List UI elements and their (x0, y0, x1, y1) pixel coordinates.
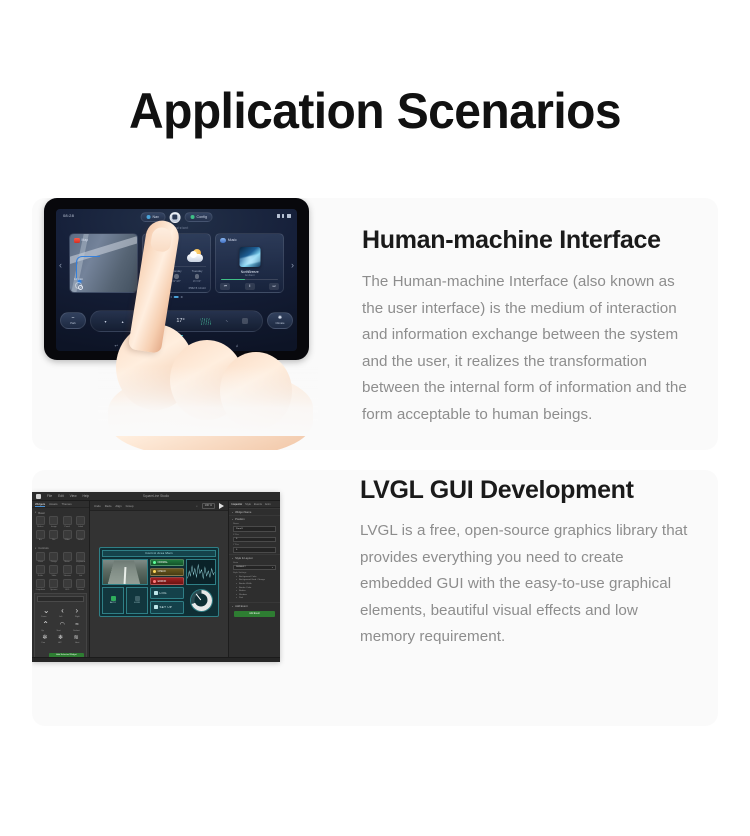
preview-icon-label: Up (41, 630, 44, 632)
music-note-icon (220, 238, 226, 244)
toolbar-redo[interactable]: Redo (105, 504, 112, 508)
map-chip: Map (74, 238, 88, 244)
panel-icon[interactable] (63, 516, 72, 525)
palette-item: List (75, 565, 87, 577)
palette-item: Switch (75, 530, 87, 542)
carousel-prev-icon[interactable]: ‹ (59, 261, 62, 270)
slider-icon[interactable] (63, 530, 72, 539)
fan-low-icon[interactable]: ▾ (105, 319, 107, 324)
right-panel-tabs: Inspector Style Events Anim (229, 501, 280, 508)
weather-condition: Cloudy (148, 261, 160, 265)
list-item: Pad (236, 597, 280, 601)
climate-temperature[interactable]: 17° (176, 318, 184, 324)
album-art (239, 247, 260, 267)
setup-button-label: SET UP (160, 605, 173, 609)
widget-grid-controls: Chart Gauge Meter Keyboard Roller Table … (32, 552, 89, 593)
forecast-day-range: 19°/28° (168, 280, 186, 283)
device-screen: 08:28 Nav (56, 209, 297, 351)
weather-temperature-value: 25 (148, 247, 160, 259)
heater-icon[interactable]: ≋ (74, 635, 79, 641)
dashboard-design[interactable]: Control Area Main NORMAL CHECK (99, 547, 219, 617)
map-icon (146, 215, 150, 219)
page-title: Application Scenarios (15, 86, 735, 136)
screen-dock: ⎯ Park ▾ ▴ ◜ 17° ◝ (56, 304, 297, 351)
weather-footer-left-label: Rainy (152, 286, 160, 290)
left-panel-preview: ⌄ ‹ › Down Left Right ⌃ ◠ ≈ (34, 593, 87, 660)
tab-widgets[interactable]: Widgets (35, 502, 45, 507)
forecast-day: Tuesday 16°/24° (188, 269, 206, 283)
chevron-down-icon[interactable]: ⌄ (43, 607, 50, 615)
table-icon[interactable] (49, 565, 58, 574)
style-settings-list: Background Color Background Grad. Change… (229, 574, 280, 602)
palette-item-label: Canvas (75, 589, 87, 591)
dock-active-indicator (171, 335, 183, 337)
home-icon[interactable] (169, 212, 180, 223)
status-button-group: NORMAL CHECK ERROR (150, 559, 184, 586)
seat-left-icon[interactable]: ◜ (160, 319, 162, 324)
nav-pill-label: Nav (153, 215, 159, 219)
weather-chip: Weather (147, 238, 167, 244)
palette-item-label: Label (75, 526, 87, 528)
preview-icon-row-1: ⌄ ‹ › (35, 604, 86, 616)
map-eta-label: 12 min (74, 277, 83, 281)
ide-status-bar (32, 657, 280, 662)
palette-item-label: Bar (48, 539, 60, 541)
palette-item-label: Gauge (48, 561, 60, 563)
carousel-pagination[interactable] (170, 296, 183, 298)
roller-icon[interactable] (36, 565, 45, 574)
toolbar-group[interactable]: Group (126, 504, 134, 508)
forecast-day: Monday 19°/28° (168, 269, 186, 283)
weather-sun-cloud-icon (187, 249, 204, 262)
music-chip-label: Music (228, 238, 237, 242)
track-artist: Ambient (216, 274, 283, 277)
forecast-day-range: 17°/26° (147, 280, 165, 283)
hmi-card-text: The Human-machine Interface (also known … (362, 269, 694, 428)
palette-item: Table (48, 565, 60, 577)
toolbar-undo[interactable]: Undo (94, 504, 101, 508)
signal-chart[interactable] (186, 559, 216, 586)
chart-waveform (187, 560, 215, 585)
map-chip-label: Map (82, 238, 89, 242)
palette-item: Button (35, 516, 47, 528)
apps-icon[interactable]: ▦ (175, 343, 179, 348)
dashboard-tiles: AUTO LOCK (102, 587, 148, 614)
preview-icon-label: Defrost (73, 630, 79, 632)
progress-bar[interactable] (221, 279, 278, 280)
weather-temperature: 25° (148, 248, 162, 259)
widget-grid-basic: Button Image Panel Label Arc Bar Slider … (32, 516, 89, 544)
gear-icon (190, 215, 194, 219)
section-add-event[interactable]: Add Event (229, 602, 280, 609)
log-icon (154, 591, 158, 595)
list-item-label[interactable]: Background Grad. Change (239, 579, 265, 581)
palette-item-label: Spinner (48, 589, 60, 591)
palette-item-label: Switch (75, 539, 87, 541)
car-icon: ⎯ (72, 316, 75, 321)
section-style-layout[interactable]: Style & Layout (229, 554, 280, 561)
ide-right-panel: Inspector Style Events Anim Widget Name … (228, 501, 280, 662)
screen-status-bar: 08:28 Nav (56, 209, 297, 224)
log-button-label: LOG (160, 591, 167, 595)
page-dot[interactable] (181, 296, 183, 298)
status-button-label: ERROR (158, 580, 167, 583)
forecast-day: Saturday 17°/26° (147, 269, 165, 283)
rain-icon (147, 286, 150, 290)
recirculate-icon[interactable] (139, 318, 145, 324)
led-icon (153, 580, 156, 583)
menu-item-edit[interactable]: Edit (58, 494, 64, 498)
palette-item: Slider (61, 530, 73, 542)
palette-item-label: Roller (35, 575, 47, 577)
menu-item-help[interactable]: Help (83, 494, 90, 498)
status-button-label: NORMAL (158, 561, 168, 564)
section-header-basic[interactable]: Basic (32, 508, 89, 516)
location-pin-icon (74, 238, 80, 244)
list-item-label[interactable]: Radius (239, 590, 246, 592)
palette-item: Chart (35, 552, 47, 564)
ide-window-title: SquareLine Studio (143, 494, 169, 498)
palm (108, 370, 313, 450)
field-input-name[interactable]: Panel1 (233, 526, 276, 532)
dock-park-label: Park (70, 322, 76, 325)
label-icon[interactable] (76, 516, 85, 525)
nav-pill-button[interactable]: Nav (140, 212, 165, 222)
list-item-label[interactable]: Shadow (239, 594, 247, 596)
dashboard-title: Control Area Main (102, 550, 216, 557)
field-input-xpos[interactable]: 0 (233, 537, 276, 543)
palette-item-label: Table (48, 575, 60, 577)
palette-item: Roller (35, 565, 47, 577)
preview-icon-row-2: ⌃ ◠ ≈ (35, 618, 86, 630)
field-select-state[interactable]: DEFAULT (233, 565, 276, 571)
screen-subtitle: Car Assistant (165, 226, 189, 230)
tile-label: LOCK (134, 602, 140, 604)
left-panel-tabs: Widgets Assets Themes (32, 501, 89, 508)
degree-symbol: ° (160, 247, 162, 252)
image-icon[interactable] (49, 516, 58, 525)
lvgl-card-body: LVGL GUI Development LVGL is a free, ope… (332, 470, 718, 726)
config-pill-label: Config (197, 215, 207, 219)
tabview-icon[interactable] (63, 565, 72, 574)
widget-card-weather[interactable]: Weather 25° Cloudy 18° / 27° (142, 233, 211, 293)
previous-icon[interactable]: ⏮ (220, 283, 230, 290)
weather-forecast-row: Saturday 17°/26° Monday 19°/28° (147, 266, 206, 283)
log-button[interactable]: LOG (150, 587, 184, 599)
vent-icon (200, 318, 211, 325)
palette-item: Dropdown (35, 579, 47, 591)
snowflake-icon[interactable]: ❄ (58, 635, 63, 641)
page-dot[interactable] (170, 296, 172, 298)
lvgl-card-text: LVGL is a free, open-source graphics lib… (360, 518, 692, 651)
canvas-icon[interactable] (76, 579, 85, 588)
dock-bottom-icons: ↩ ▦ ♫ (56, 343, 297, 348)
cloud-icon (187, 254, 203, 262)
palette-item: Keyboard (75, 552, 87, 564)
palette-item-label: Arc (35, 539, 47, 541)
field-label-ypos: Y Pos (229, 543, 280, 546)
cloud-icon (154, 274, 159, 279)
ide-window: File Edit View Help SquareLine Studio Wi… (32, 492, 280, 662)
tile-label: AUTO (110, 602, 116, 604)
forecast-day-range: 16°/24° (188, 280, 206, 283)
forecast-day-name: Tuesday (188, 269, 206, 273)
palette-item: Label (75, 516, 87, 528)
track-title: NorthBreeze (216, 270, 283, 274)
zoom-level[interactable]: 100 % (202, 503, 215, 509)
carousel-next-icon[interactable]: › (291, 261, 294, 270)
palette-item-label: LED (61, 589, 73, 591)
tile-lock[interactable]: LOCK (126, 587, 148, 614)
chevron-right-icon[interactable]: › (75, 607, 78, 615)
status-button-error[interactable]: ERROR (150, 577, 184, 585)
progress-fill (221, 279, 245, 280)
list-item-label[interactable]: Background Color (239, 576, 257, 578)
tab-inspector[interactable]: Inspector (232, 503, 243, 506)
tab-style[interactable]: Style (245, 503, 251, 506)
weather-footer-left: Rainy (147, 286, 159, 290)
spinner-icon[interactable] (49, 579, 58, 588)
scenario-card-human-machine-interface: 08:28 Nav (32, 198, 718, 450)
dock-climate-button[interactable]: ✺ Climate (267, 312, 293, 329)
auto-icon (111, 596, 116, 601)
defrost-icon[interactable]: ≈ (75, 622, 78, 628)
toolbar-align[interactable]: Align (115, 504, 121, 508)
hand-fade-overlay (98, 366, 318, 436)
gauge-needle (196, 594, 202, 601)
preview-icon-label: Left (59, 616, 62, 618)
palette-item-label: Tabview (61, 575, 73, 577)
music-chip: Music (220, 238, 236, 244)
hmi-card-body: Human-machine Interface The Human-machin… (332, 198, 718, 450)
dashboard-actions: LOG SET UP (150, 587, 184, 614)
chart-icon[interactable] (36, 552, 45, 561)
bar-icon[interactable] (49, 530, 58, 539)
field-input-ypos[interactable]: 0 (233, 547, 276, 553)
field-label-name: Name (229, 522, 280, 525)
list-item-label[interactable]: Border Color (239, 587, 251, 589)
preview-icon-label: Heat (75, 642, 79, 644)
pause-icon[interactable]: ‖ (245, 283, 255, 290)
palette-item-label: Button (35, 526, 47, 528)
dashboard-top-row: NORMAL CHECK ERROR (102, 559, 216, 586)
chevron-up-icon[interactable]: ⌃ (42, 621, 49, 629)
palette-item-label: Dropdown (35, 589, 47, 591)
preview-icon-label: Seat (56, 630, 60, 632)
preview-icon-label: Down (41, 616, 46, 618)
led-icon (153, 561, 156, 564)
palette-item-label: Meter (61, 561, 73, 563)
seat-right-icon[interactable]: ◝ (226, 319, 228, 324)
music-controls: ⏮ ‖ ⏭ (220, 283, 279, 290)
next-icon[interactable]: ⏭ (269, 283, 279, 290)
section-widget-name[interactable]: Widget Name (229, 508, 280, 515)
arc-icon[interactable] (36, 530, 45, 539)
menu-item-file[interactable]: File (47, 494, 52, 498)
gauge-icon[interactable] (49, 552, 58, 561)
fan-icon: ✺ (278, 316, 282, 321)
dashboard-bottom-row: AUTO LOCK LOG (102, 587, 216, 614)
hmi-card-title: Human-machine Interface (362, 226, 694, 255)
camera-view-panel[interactable] (102, 559, 148, 586)
switch-icon[interactable] (76, 530, 85, 539)
rain-icon (195, 274, 200, 279)
signal-icon (277, 214, 280, 218)
palette-item: Panel (61, 516, 73, 528)
widget-card-music[interactable]: Music NorthBreeze Ambient ⏮ ‖ ⏭ (215, 233, 284, 293)
section-header-controls[interactable]: Controls (32, 544, 89, 552)
config-pill-button[interactable]: Config (184, 212, 213, 222)
palette-item-label: Slider (61, 539, 73, 541)
lock-icon (135, 596, 140, 601)
battery-icon (287, 214, 292, 218)
preview-icon-labels-2: Up Seat Defrost (35, 630, 86, 632)
weather-footer-right: PM2.5 14 Air (189, 286, 206, 290)
lvgl-ide-screenshot: File Edit View Help SquareLine Studio Wi… (32, 470, 332, 726)
tab-assets[interactable]: Assets (49, 502, 57, 506)
magnifier-icon[interactable]: ⌕ (196, 504, 198, 508)
palette-item: Image (48, 516, 60, 528)
section-position[interactable]: Position (229, 515, 280, 522)
page-dot-active[interactable] (174, 296, 179, 298)
led-icon[interactable] (63, 579, 72, 588)
gauge-widget[interactable] (191, 590, 212, 611)
tile-auto[interactable]: AUTO (102, 587, 124, 614)
status-button-check[interactable]: CHECK (150, 568, 184, 576)
led-icon (153, 570, 156, 573)
search-input[interactable] (37, 596, 84, 602)
fan-icon[interactable]: ✲ (42, 635, 47, 641)
status-button-label: CHECK (158, 570, 166, 573)
touchscreen-device: 08:28 Nav (44, 198, 309, 360)
screen-widget-row: 12 min Map Weather (69, 233, 284, 293)
play-icon[interactable] (219, 503, 224, 509)
seat-heat-icon[interactable]: ◠ (60, 622, 65, 628)
preview-icon-label: A/C (58, 642, 61, 644)
field-label-xpos: X Pos (229, 533, 280, 536)
meter-icon[interactable] (63, 552, 72, 561)
dashboard-gauge-wrap (186, 587, 216, 614)
palette-item: Meter (61, 552, 73, 564)
gear-icon (154, 605, 158, 609)
status-clock: 08:28 (63, 213, 74, 218)
forecast-day-name: Monday (168, 269, 186, 273)
status-system-icons (277, 214, 291, 218)
widget-card-map[interactable]: 12 min Map (69, 233, 138, 293)
scenario-cards: 08:28 Nav (0, 198, 750, 726)
keyboard-icon[interactable] (76, 552, 85, 561)
add-event-button[interactable]: Add Event (234, 611, 275, 617)
lvgl-card-title: LVGL GUI Development (360, 476, 692, 505)
back-icon[interactable]: ↩ (114, 343, 117, 348)
palette-item-label: Chart (35, 561, 47, 563)
scenario-card-lvgl-gui-development: File Edit View Help SquareLine Studio Wi… (32, 470, 718, 726)
sun-icon (174, 274, 179, 279)
weather-footer: Rainy PM2.5 14 Air (147, 286, 206, 290)
dock-climate-label: Climate (275, 322, 284, 325)
dropdown-icon[interactable] (36, 579, 45, 588)
forecast-day-name: Saturday (147, 269, 165, 273)
palette-item-label: Panel (61, 526, 73, 528)
palette-item: LED (61, 579, 73, 591)
list-icon[interactable] (76, 565, 85, 574)
preview-icon-label: Fan (42, 642, 45, 644)
tab-themes[interactable]: Themes (62, 502, 72, 506)
weather-chip-label: Weather (155, 238, 168, 242)
palette-item: Canvas (75, 579, 87, 591)
palette-item: Arc (35, 530, 47, 542)
palette-item: Bar (48, 530, 60, 542)
hmi-device-photo: 08:28 Nav (32, 198, 332, 450)
button-icon[interactable] (36, 516, 45, 525)
preview-icon-labels-3: Fan A/C Heat (35, 642, 86, 644)
field-label-state: State (229, 561, 280, 564)
list-item-label[interactable]: Border Width (239, 583, 252, 585)
palette-item: Spinner (48, 579, 60, 591)
screen-top-buttons: Nav Config (140, 212, 213, 223)
dock-climate-bar: ▾ ▴ ◜ 17° ◝ (90, 310, 263, 332)
chevron-left-icon[interactable]: ‹ (61, 607, 64, 615)
setup-button[interactable]: SET UP (150, 601, 184, 613)
ide-canvas[interactable]: Undo Redo Align Group ⌕ 100 % Control Ar… (90, 501, 228, 662)
status-button-normal[interactable]: NORMAL (150, 559, 184, 567)
preview-icon-row-3: ✲ ❄ ≋ (35, 632, 86, 642)
list-item-label[interactable]: Pad (239, 597, 243, 599)
preview-icon-label: Right (75, 616, 80, 618)
search-icon[interactable] (75, 282, 82, 289)
dock-park-button[interactable]: ⎯ Park (60, 312, 86, 329)
airflow-icon[interactable]: ▴ (122, 319, 124, 324)
palette-item-label: List (75, 575, 87, 577)
bluetooth-icon (282, 214, 285, 218)
volume-icon[interactable]: ♫ (236, 343, 239, 348)
palette-item-label: Image (48, 526, 60, 528)
weather-icon (147, 238, 153, 244)
palette-item: Tabview (61, 565, 73, 577)
knuckle (220, 352, 292, 430)
app-logo-icon (36, 494, 41, 499)
ide-left-panel: Widgets Assets Themes Basic Button Image… (32, 501, 90, 662)
auto-icon[interactable] (242, 318, 248, 324)
palette-item-label: Keyboard (75, 561, 87, 563)
palette-item: Gauge (48, 552, 60, 564)
tab-events[interactable]: Events (254, 503, 262, 506)
tab-anim[interactable]: Anim (265, 503, 271, 506)
preview-icon-labels-1: Down Left Right (35, 616, 86, 618)
menu-item-view[interactable]: View (70, 494, 77, 498)
canvas-toolbar: Undo Redo Align Group ⌕ 100 % (90, 501, 228, 511)
